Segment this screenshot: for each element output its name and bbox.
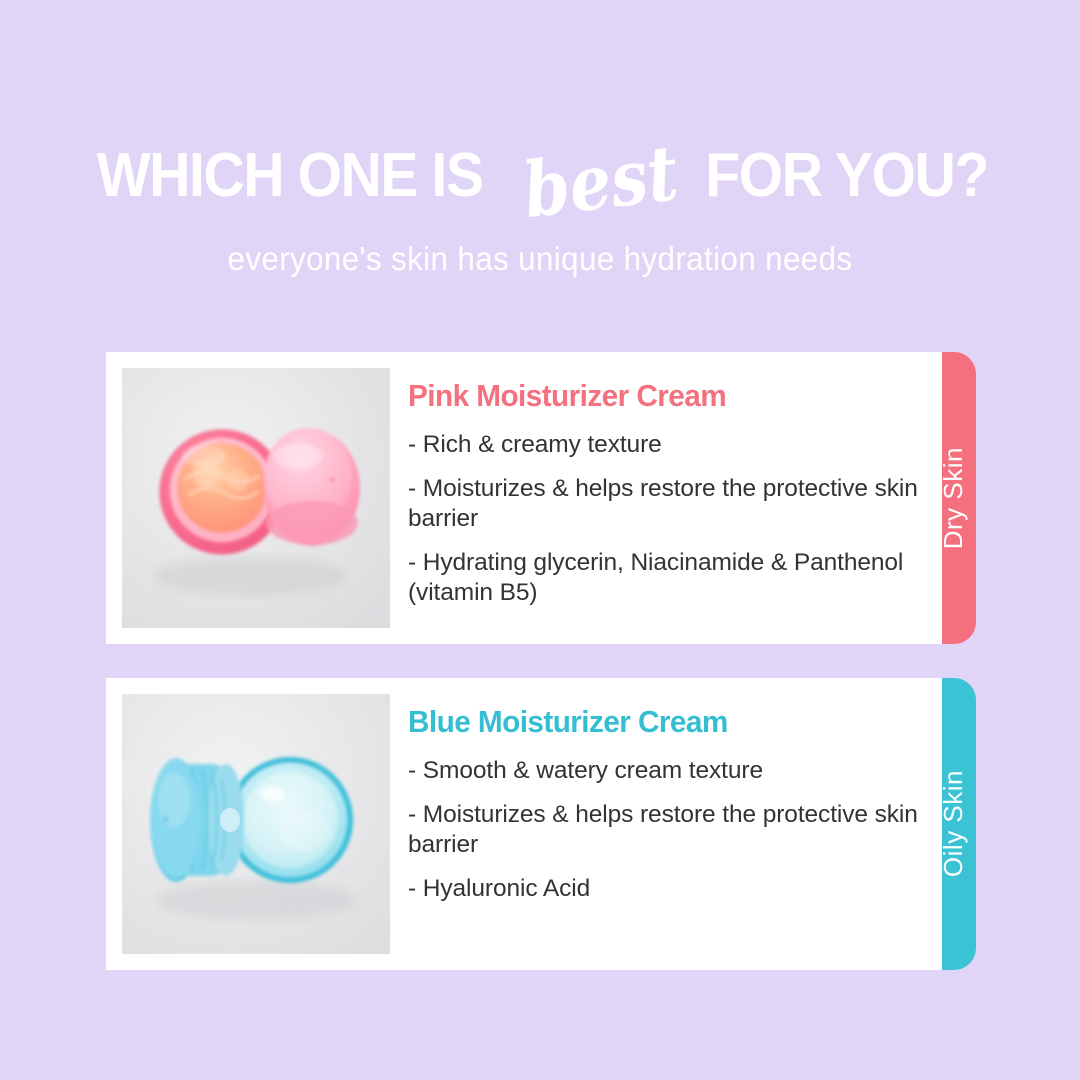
headline-right-text: FOR YOU? (705, 145, 988, 207)
product-card-blue-wrapper: Oily Skin (0, 678, 1080, 970)
product-bullet: - Moisturizes & helps restore the protec… (408, 800, 926, 860)
product-title-pink: Pink Moisturizer Cream (408, 378, 905, 414)
blue-cream-jar-photo (122, 694, 390, 954)
header: WHICH ONE IS best FOR YOU? everyone's sk… (0, 0, 1080, 278)
product-card-pink[interactable]: Pink Moisturizer Cream - Rich & creamy t… (106, 352, 942, 644)
product-bullet: - Smooth & watery cream texture (408, 756, 926, 786)
product-card-list: Dry Skin (0, 352, 1080, 970)
product-info-blue: Blue Moisturizer Cream - Smooth & watery… (390, 694, 926, 904)
headline-script-word: best (520, 135, 682, 229)
headline-left-text: WHICH ONE IS (97, 145, 483, 207)
product-bullet: - Hyaluronic Acid (408, 874, 926, 904)
product-bullet: - Rich & creamy texture (408, 430, 926, 460)
product-info-pink: Pink Moisturizer Cream - Rich & creamy t… (390, 368, 926, 607)
page-subtitle: everyone's skin has unique hydration nee… (27, 240, 1053, 278)
skin-type-tab-label: Dry Skin (938, 447, 969, 549)
product-bullet: - Hydrating glycerin, Niacinamide & Pant… (408, 548, 926, 608)
product-bullet: - Moisturizes & helps restore the protec… (408, 474, 926, 534)
page-title: WHICH ONE IS best FOR YOU? (0, 138, 1080, 214)
product-title-blue: Blue Moisturizer Cream (408, 704, 905, 740)
product-card-blue[interactable]: Blue Moisturizer Cream - Smooth & watery… (106, 678, 942, 970)
pink-cream-jar-photo (122, 368, 390, 628)
product-card-pink-wrapper: Dry Skin (0, 352, 1080, 644)
skin-type-tab-label: Oily Skin (938, 770, 969, 877)
